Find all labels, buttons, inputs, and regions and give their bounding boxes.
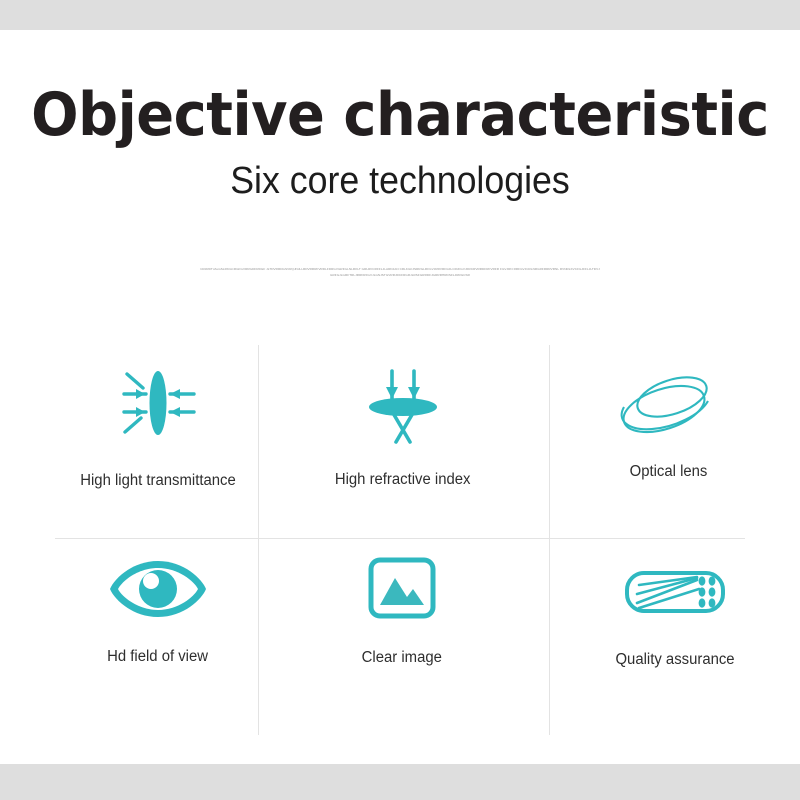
fiber-bundle-icon	[623, 563, 727, 621]
contact-lens-rings-icon	[616, 367, 720, 441]
feature-label: High light transmittance	[80, 472, 235, 490]
feature-label: Clear image	[362, 649, 442, 667]
feature-label: Optical lens	[629, 463, 707, 481]
eye-icon	[106, 557, 210, 621]
infographic-page: Objective characteristic Six core techno…	[0, 0, 800, 800]
feature-label: High refractive index	[335, 471, 471, 489]
feature-label: Quality assurance	[615, 651, 734, 669]
page-title: Objective characteristic	[28, 84, 772, 147]
grid-divider-vertical-left	[258, 345, 259, 735]
grid-divider-vertical-right	[549, 345, 550, 735]
header: Objective characteristic Six core techno…	[0, 84, 800, 203]
lens-light-transmittance-icon	[110, 360, 206, 446]
page-subtitle: Six core technologies	[24, 161, 776, 203]
feature-cell-high-light-transmittance[interactable]: High light transmittance	[63, 360, 253, 490]
feature-label: Hd field of view	[108, 648, 209, 666]
top-letterbox-band	[0, 0, 800, 30]
feature-cell-high-refractive-index[interactable]: High refractive index	[305, 363, 500, 489]
feature-grid: High light transmittance	[55, 345, 745, 735]
feature-cell-hd-field-of-view[interactable]: Hd field of view	[63, 557, 253, 666]
photo-mountain-icon	[367, 557, 437, 619]
bottom-letterbox-band	[0, 764, 800, 800]
fineprint-paragraph: CRJRDTJALGSLRKGCRGFGVRRGDFRDGF JLTDVRRDG…	[200, 266, 600, 278]
feature-cell-quality-assurance[interactable]: Quality assurance	[580, 563, 770, 669]
feature-cell-optical-lens[interactable]: Optical lens	[578, 367, 758, 481]
feature-cell-clear-image[interactable]: Clear image	[307, 557, 497, 667]
grid-divider-horizontal	[55, 538, 745, 539]
refraction-lens-icon	[357, 363, 449, 447]
